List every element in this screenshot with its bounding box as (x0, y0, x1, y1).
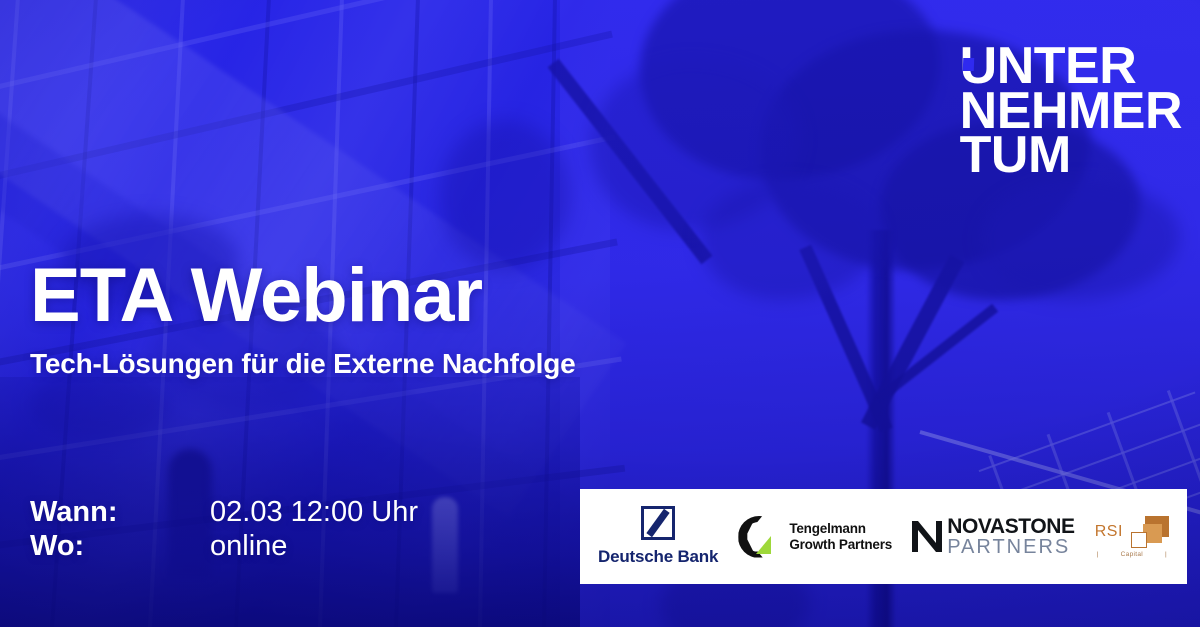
novastone-label-line1: NOVASTONE (947, 516, 1074, 537)
page-title: ETA Webinar (30, 258, 576, 334)
partner-logo-bar: Deutsche Bank Tengelmann Growth Partners (580, 489, 1187, 584)
deutsche-bank-label: Deutsche Bank (598, 547, 718, 567)
partner-deutsche-bank: Deutsche Bank (598, 506, 718, 567)
unternehmertum-logo: UNTER NEHMER TUM (960, 44, 1182, 178)
detail-row-when: Wann: 02.03 12:00 Uhr (30, 495, 418, 529)
detail-value-when: 02.03 12:00 Uhr (210, 495, 418, 529)
rsi-sub-dot-left: | (1097, 551, 1099, 558)
logo-u-notch (962, 58, 973, 71)
tengelmann-label-line1: Tengelmann (789, 521, 892, 537)
logo-line-3: TUM (960, 133, 1182, 178)
rsi-sub-label: Capital (1121, 551, 1143, 558)
novastone-label-line2: PARTNERS (947, 537, 1074, 557)
rsi-label: RSI (1095, 523, 1123, 541)
novastone-icon (912, 521, 942, 552)
deutsche-bank-icon (641, 506, 675, 540)
headline-block: ETA Webinar Tech-Lösungen für die Extern… (30, 258, 576, 380)
rsi-icon (1131, 516, 1169, 548)
tengelmann-icon (738, 516, 780, 558)
event-poster: UNTER NEHMER TUM ETA Webinar Tech-Lösung… (0, 0, 1200, 627)
page-subtitle: Tech-Lösungen für die Externe Nachfolge (30, 348, 576, 380)
logo-line-1: UNTER (960, 44, 1137, 89)
partner-tengelmann: Tengelmann Growth Partners (738, 516, 892, 558)
event-details: Wann: 02.03 12:00 Uhr Wo: online (30, 495, 418, 563)
partner-novastone: NOVASTONE PARTNERS (912, 516, 1074, 557)
partner-rsi-capital: RSI | Capital | (1095, 516, 1169, 558)
tengelmann-label-line2: Growth Partners (789, 537, 892, 553)
logo-line-1-text: UNTER (960, 37, 1137, 95)
rsi-sub-dot-right: | (1165, 551, 1167, 558)
detail-label-where: Wo: (30, 529, 210, 563)
detail-value-where: online (210, 529, 287, 563)
detail-row-where: Wo: online (30, 529, 418, 563)
detail-label-when: Wann: (30, 495, 210, 529)
